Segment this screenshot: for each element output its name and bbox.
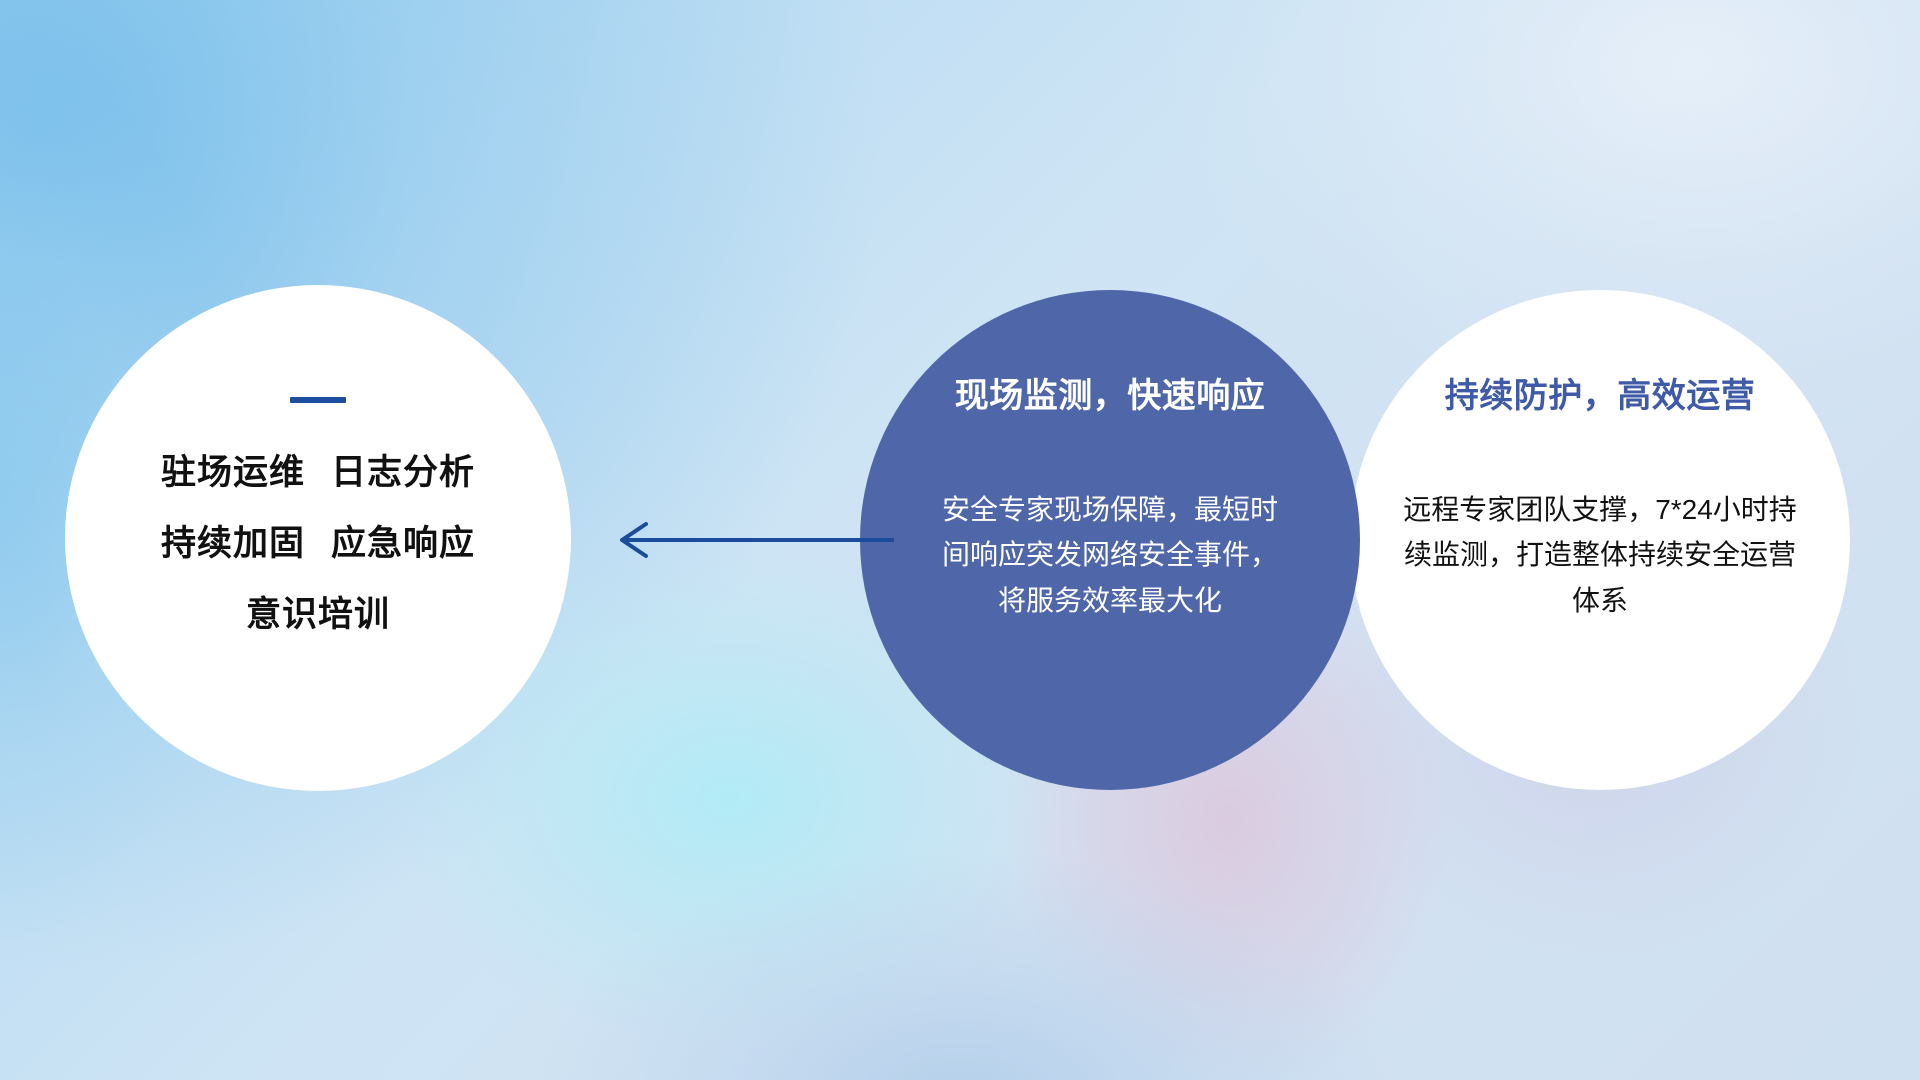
- middle-circle-body: 安全专家现场保障，最短时间响应突发网络安全事件，将服务效率最大化: [940, 487, 1280, 623]
- right-circle-body: 远程专家团队支撑，7*24小时持续监测，打造整体持续安全运营体系: [1394, 487, 1806, 623]
- accent-dash-icon: [290, 397, 346, 403]
- right-circle-content: 持续防护，高效运营 远程专家团队支撑，7*24小时持续监测，打造整体持续安全运营…: [1350, 290, 1850, 790]
- flow-arrow-icon: [600, 510, 900, 570]
- service-keyword-row: 持续加固应急响应: [161, 526, 475, 561]
- service-keyword: 意识培训: [246, 595, 390, 634]
- left-service-circle[interactable]: 驻场运维日志分析 持续加固应急响应 意识培训: [65, 285, 571, 791]
- service-keyword-row: 驻场运维日志分析: [161, 455, 475, 490]
- middle-circle-content: 现场监测，快速响应 安全专家现场保障，最短时间响应突发网络安全事件，将服务效率最…: [860, 290, 1360, 790]
- service-keyword: 日志分析: [331, 453, 475, 492]
- right-service-circle[interactable]: 持续防护，高效运营 远程专家团队支撑，7*24小时持续监测，打造整体持续安全运营…: [1350, 290, 1850, 790]
- right-circle-title: 持续防护，高效运营: [1445, 368, 1756, 417]
- middle-service-circle[interactable]: 现场监测，快速响应 安全专家现场保障，最短时间响应突发网络安全事件，将服务效率最…: [860, 290, 1360, 790]
- left-circle-content: 驻场运维日志分析 持续加固应急响应 意识培训: [65, 285, 571, 791]
- slide-canvas: 驻场运维日志分析 持续加固应急响应 意识培训 现场监测，快速响应 安全专家现场保…: [0, 0, 1920, 1080]
- service-keyword-row: 意识培训: [246, 597, 390, 632]
- service-keyword: 应急响应: [331, 524, 475, 563]
- service-keyword: 持续加固: [161, 524, 305, 563]
- middle-circle-title: 现场监测，快速响应: [955, 368, 1266, 417]
- service-keyword: 驻场运维: [161, 453, 305, 492]
